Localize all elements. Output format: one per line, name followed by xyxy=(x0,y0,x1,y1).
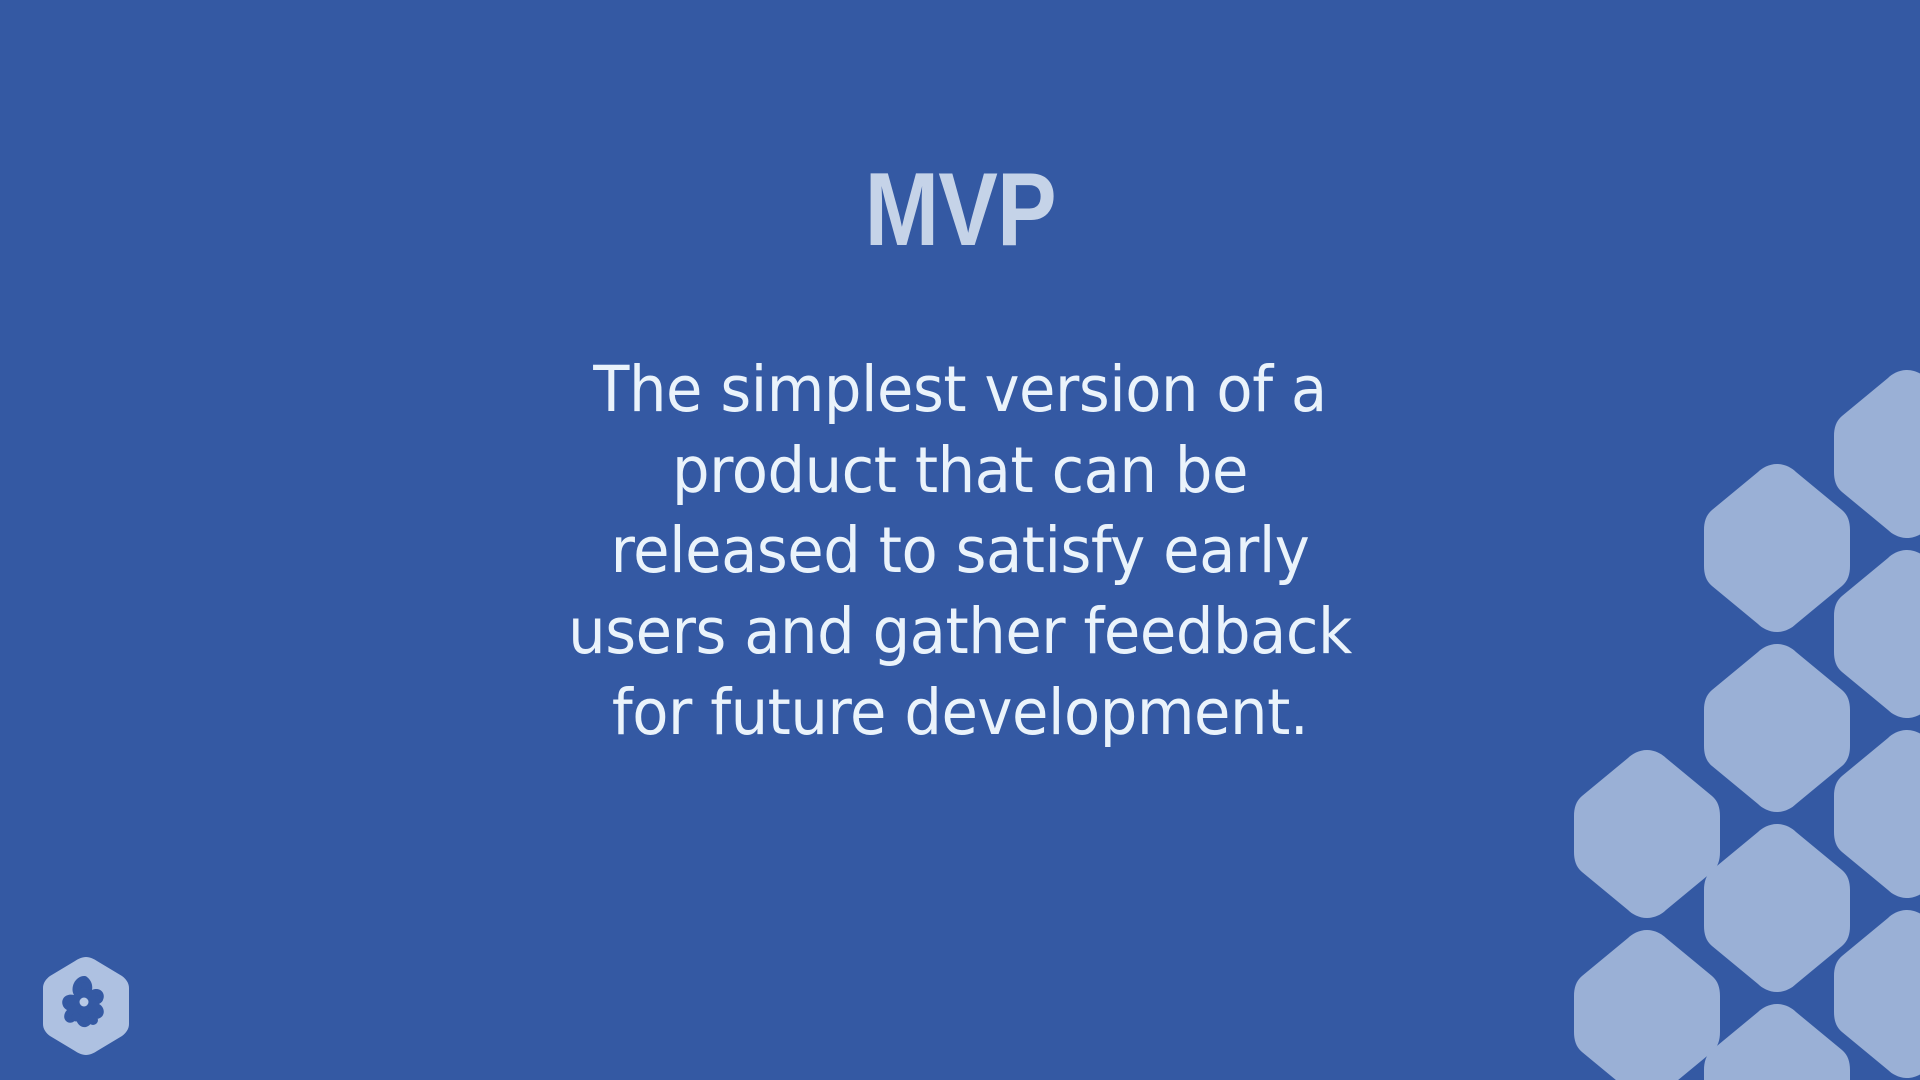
slide-canvas: MVP The simplest version of a product th… xyxy=(0,0,1920,1080)
slide-content: MVP The simplest version of a product th… xyxy=(0,0,1920,1080)
page-title: MVP xyxy=(864,158,1055,262)
slide-description: The simplest version of a product that c… xyxy=(528,350,1393,753)
brand-logo-icon xyxy=(40,954,132,1058)
body-line: for future development. xyxy=(528,673,1393,754)
body-line: released to satisfy early xyxy=(528,511,1393,592)
body-line: The simplest version of a xyxy=(528,350,1393,431)
body-line: users and gather feedback xyxy=(528,592,1393,673)
body-line: product that can be xyxy=(528,431,1393,512)
